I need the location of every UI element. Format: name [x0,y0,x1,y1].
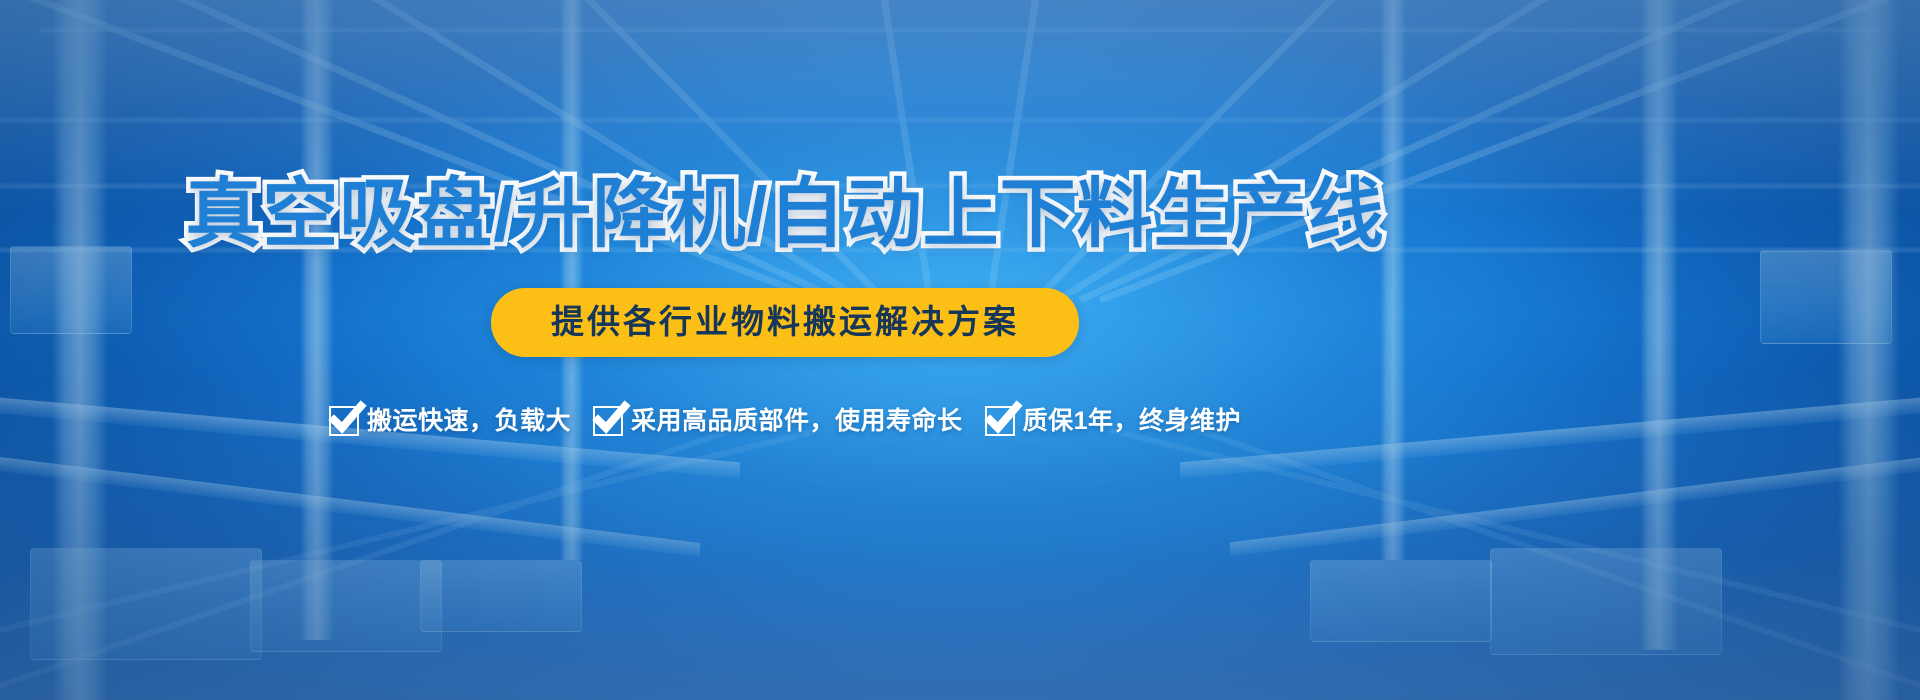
banner-headline: 真空吸盘/升降机/自动上下料生产线 [0,177,1570,253]
feature-item: 质保1年，终身维护 [985,406,1241,436]
feature-list: 搬运快速，负载大 采用高品质部件，使用寿命长 质保1年，终身维护 [0,406,1570,436]
feature-label: 搬运快速，负载大 [367,409,571,434]
check-icon [593,406,623,436]
feature-label: 质保1年，终身维护 [1023,409,1241,434]
banner-subtitle-pill: 提供各行业物料搬运解决方案 [491,288,1079,357]
feature-item: 采用高品质部件，使用寿命长 [593,406,963,436]
feature-label: 采用高品质部件，使用寿命长 [631,409,963,434]
feature-item: 搬运快速，负载大 [329,406,571,436]
banner-content: 真空吸盘/升降机/自动上下料生产线 提供各行业物料搬运解决方案 搬运快速，负载大 [0,0,1920,700]
check-icon [329,406,359,436]
promo-banner: 真空吸盘/升降机/自动上下料生产线 提供各行业物料搬运解决方案 搬运快速，负载大 [0,0,1920,700]
check-icon [985,406,1015,436]
banner-subtitle-container: 提供各行业物料搬运解决方案 [0,288,1570,357]
